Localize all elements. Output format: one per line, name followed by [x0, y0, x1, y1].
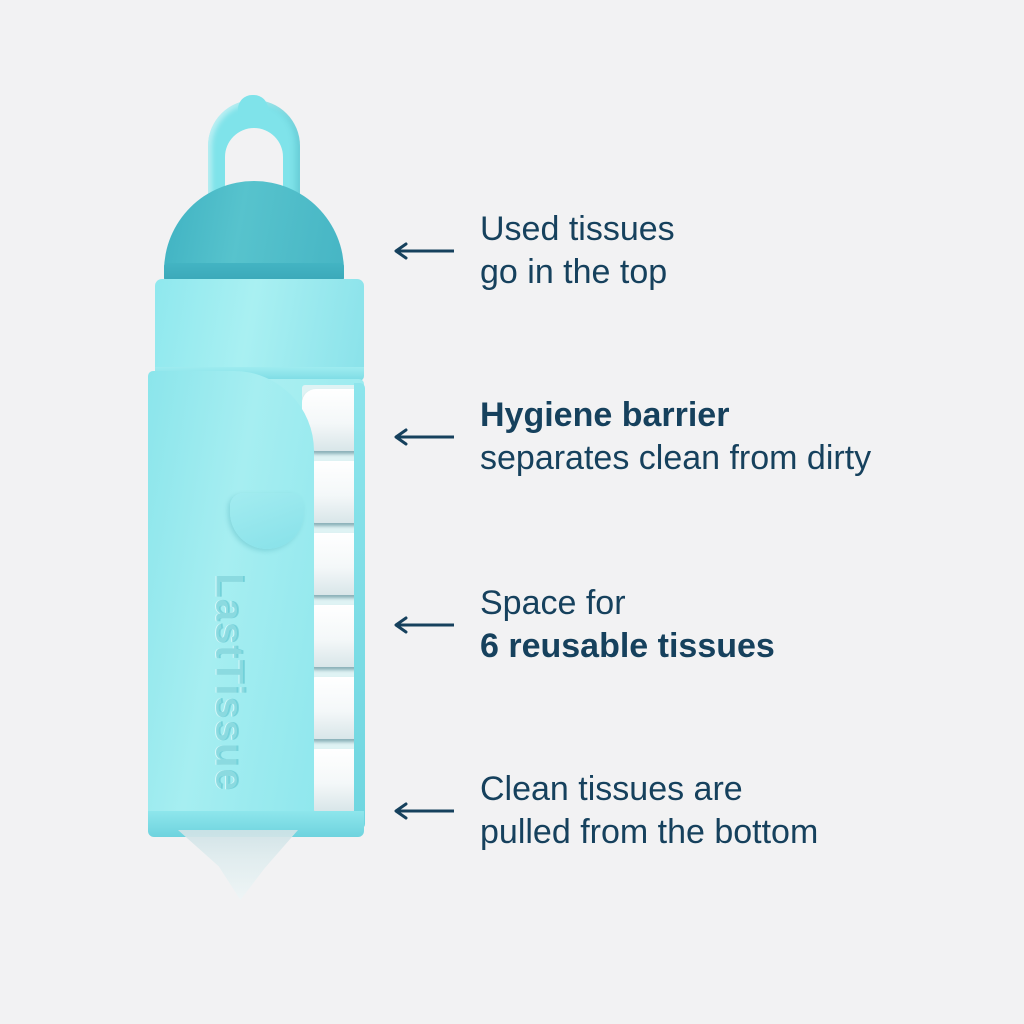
left-arrow-icon	[392, 801, 454, 821]
callout-text: Hygiene barrier separates clean from dir…	[480, 394, 871, 480]
product-illustration: LastTissue	[130, 95, 390, 885]
callout-hygiene-barrier: Hygiene barrier separates clean from dir…	[392, 394, 871, 480]
callout-line-2: separates clean from dirty	[480, 437, 871, 480]
left-arrow-icon	[392, 615, 454, 635]
callout-text: Clean tissues are pulled from the bottom	[480, 768, 818, 854]
callout-line-1: Space for	[480, 582, 775, 625]
callout-line-1: Hygiene barrier	[480, 394, 871, 437]
callout-used-tissues: Used tissues go in the top	[392, 208, 675, 294]
callout-line-2: pulled from the bottom	[480, 811, 818, 854]
emerging-tissue	[178, 830, 298, 900]
handle-nub	[238, 95, 268, 117]
left-arrow-icon	[392, 241, 454, 261]
callout-text: Used tissues go in the top	[480, 208, 675, 294]
callout-line-2: go in the top	[480, 251, 675, 294]
left-arrow-icon	[392, 427, 454, 447]
upper-collar	[155, 279, 364, 375]
window-frame	[354, 383, 365, 829]
callout-line-1: Clean tissues are	[480, 768, 818, 811]
callout-text: Space for 6 reusable tissues	[480, 582, 775, 668]
brand-emboss: LastTissue	[207, 558, 252, 808]
callout-clean-tissues: Clean tissues are pulled from the bottom	[392, 768, 818, 854]
infographic-stage: LastTissue Used tissues go in the top Hy…	[0, 0, 1024, 1024]
callout-line-1: Used tissues	[480, 208, 675, 251]
callout-line-2: 6 reusable tissues	[480, 625, 775, 668]
callout-space-for-tissues: Space for 6 reusable tissues	[392, 582, 775, 668]
